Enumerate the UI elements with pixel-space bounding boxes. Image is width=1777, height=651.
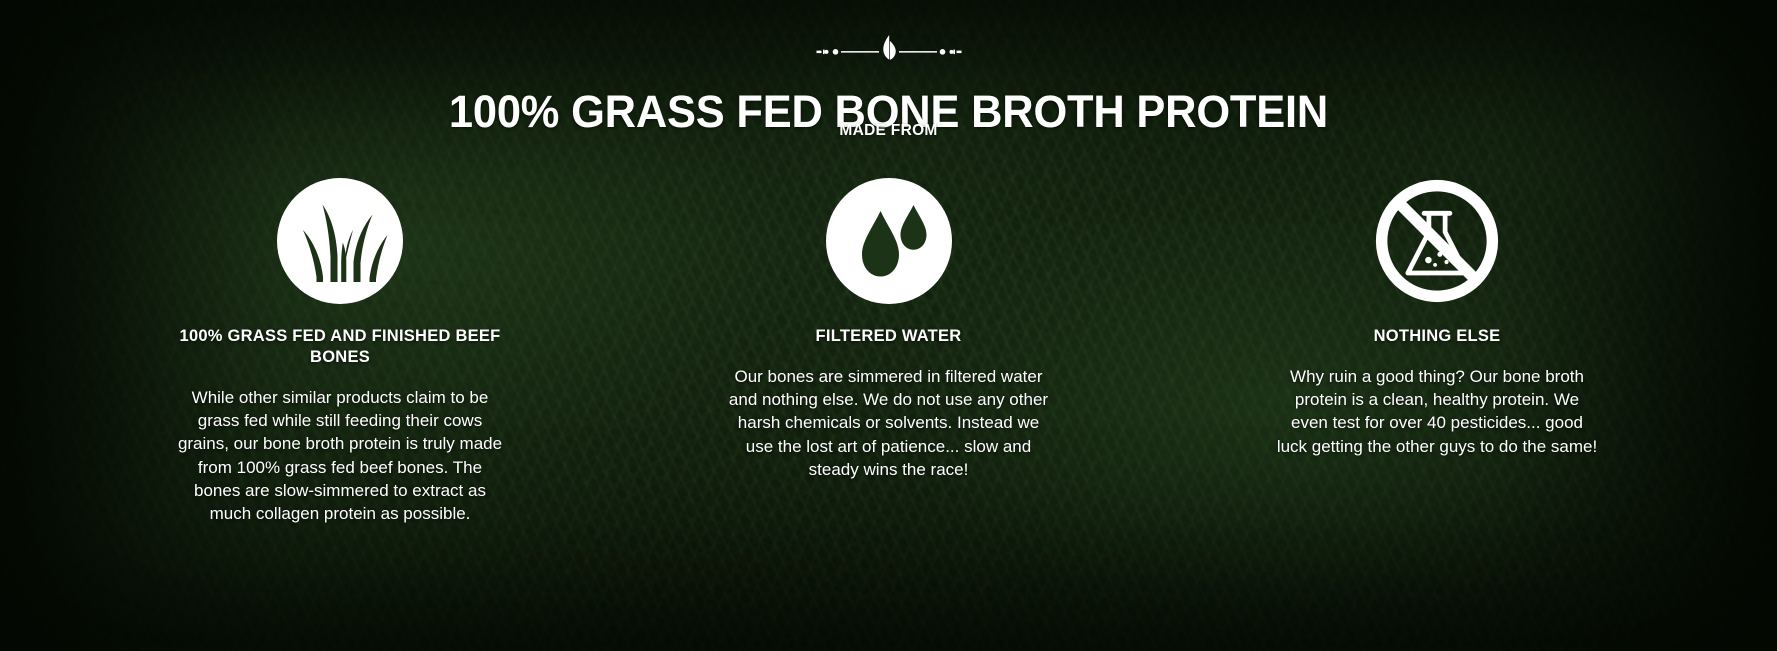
grass-fed-bone-broth-feature-section: 100% GRASS FED BONE BROTH PROTEIN MADE F… [0, 0, 1777, 651]
feature-title: NOTHING ELSE [1265, 326, 1609, 347]
section-label: MADE FROM [0, 122, 1777, 140]
feature-column-nothing-else: NOTHING ELSE Why ruin a good thing? Our … [1265, 178, 1609, 458]
feature-column-grass-fed: 100% GRASS FED AND FINISHED BEEF BONES W… [168, 178, 512, 525]
feature-body: While other similar products claim to be… [168, 386, 512, 525]
leaf-ornament-divider [0, 30, 1777, 64]
no-chemicals-flask-icon [1374, 178, 1500, 304]
grass-blades-icon [277, 178, 403, 304]
feature-title: 100% GRASS FED AND FINISHED BEEF BONES [168, 326, 512, 368]
section-content: 100% GRASS FED BONE BROTH PROTEIN MADE F… [0, 0, 1777, 651]
feature-body: Why ruin a good thing? Our bone broth pr… [1265, 365, 1609, 458]
feature-body: Our bones are simmered in filtered water… [717, 365, 1061, 481]
feature-columns: 100% GRASS FED AND FINISHED BEEF BONES W… [168, 178, 1609, 525]
water-drops-icon [826, 178, 952, 304]
feature-column-filtered-water: FILTERED WATER Our bones are simmered in… [717, 178, 1061, 481]
feature-title: FILTERED WATER [717, 326, 1061, 347]
